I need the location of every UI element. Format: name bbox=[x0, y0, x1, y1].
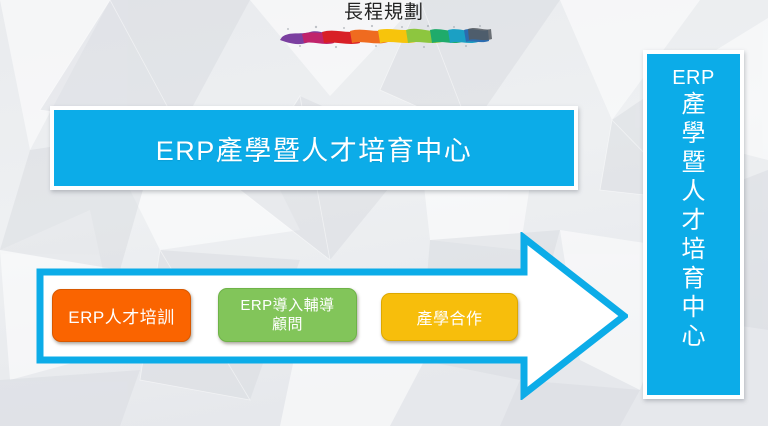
main-title-banner-fill: ERP產學暨人才培育中心 bbox=[54, 110, 574, 186]
pill-collab-label: 產學合作 bbox=[416, 305, 482, 329]
rainbow-paint-splash-icon bbox=[276, 23, 492, 49]
side-result-banner[interactable]: ERP 產 學 暨 人 才 培 育 中 心 bbox=[643, 50, 744, 399]
pill-consulting-label-line2: 顧問 bbox=[240, 315, 334, 334]
side-banner-latin: ERP bbox=[672, 66, 715, 90]
pill-collab[interactable]: 產學合作 bbox=[381, 293, 518, 341]
page-title: 長程規劃 bbox=[344, 1, 424, 25]
pill-consulting-label-line1: ERP導入輔導 bbox=[240, 296, 334, 315]
pill-training-label: ERP人才培訓 bbox=[68, 303, 174, 328]
pill-consulting[interactable]: ERP導入輔導 顧問 bbox=[218, 288, 357, 342]
side-banner-char-6: 育 bbox=[682, 264, 706, 293]
main-title-banner-label: ERP產學暨人才培育中心 bbox=[156, 129, 473, 168]
side-banner-char-8: 心 bbox=[682, 322, 706, 351]
main-title-banner[interactable]: ERP產學暨人才培育中心 bbox=[50, 106, 578, 190]
pill-consulting-label: ERP導入輔導 顧問 bbox=[240, 296, 334, 334]
side-result-banner-fill: ERP 產 學 暨 人 才 培 育 中 心 bbox=[647, 54, 740, 395]
side-banner-char-0: 產 bbox=[682, 90, 706, 119]
side-banner-char-2: 暨 bbox=[682, 148, 706, 177]
side-banner-char-7: 中 bbox=[682, 293, 706, 322]
side-banner-char-4: 才 bbox=[682, 206, 706, 235]
pill-training[interactable]: ERP人才培訓 bbox=[52, 289, 191, 342]
side-banner-char-3: 人 bbox=[682, 177, 706, 206]
side-banner-char-5: 培 bbox=[682, 235, 706, 264]
side-banner-char-1: 學 bbox=[682, 119, 706, 148]
